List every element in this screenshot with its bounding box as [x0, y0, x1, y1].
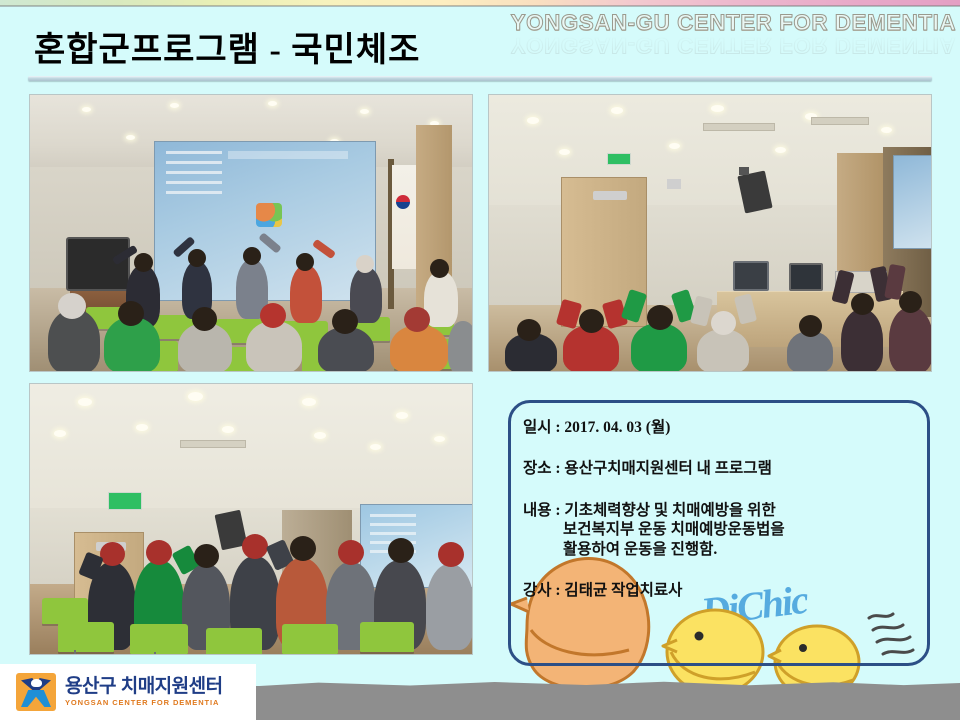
info-content-line-2: 보건복지부 운동 치매예방운동법을: [523, 520, 928, 539]
info-instructor-line: 강사 : 김태균 작업치료사: [523, 581, 928, 600]
logo-mark-icon: [16, 673, 56, 711]
photo-top-left-scene: [30, 95, 472, 371]
logo-english-name: YONGSAN CENTER FOR DEMENTIA: [65, 699, 223, 707]
logo-text-block: 용산구 치매지원센터 YONGSAN CENTER FOR DEMENTIA: [65, 677, 223, 707]
title-divider: [28, 76, 932, 81]
info-content-line-2-text: 보건복지부 운동 치매예방운동법을: [563, 521, 785, 538]
ground-strip: [255, 686, 960, 720]
logo-korean-name: 용산구 치매지원센터: [65, 677, 223, 697]
brand-english-reflection: YONGSAN-GU CENTER FOR DEMENTIA: [511, 32, 956, 58]
info-date-line: 일시 : 2017. 04. 03 (월): [523, 418, 928, 437]
info-place-line: 장소 : 용산구치매지원센터 내 프로그램: [523, 459, 928, 478]
photo-top-right[interactable]: [488, 94, 932, 372]
photo-bottom-left[interactable]: [29, 383, 473, 655]
info-content-line-3-text: 활용하여 운동을 진행함.: [563, 541, 717, 558]
slide-header: 혼합군프로그램 - 국민체조 YONGSAN-GU CENTER FOR DEM…: [0, 6, 960, 80]
page-title: 혼합군프로그램 - 국민체조: [34, 22, 420, 71]
info-content-line-3: 활용하여 운동을 진행함.: [523, 540, 928, 559]
center-logo: 용산구 치매지원센터 YONGSAN CENTER FOR DEMENTIA: [0, 664, 256, 720]
info-panel-text: 일시 : 2017. 04. 03 (월) 장소 : 용산구치매지원센터 내 프…: [523, 418, 928, 600]
photo-top-left[interactable]: [29, 94, 473, 372]
info-content-line-1: 내용 : 기초체력향상 및 치매예방을 위한: [523, 501, 928, 520]
photo-top-right-scene: [489, 95, 931, 371]
photo-bottom-left-scene: [30, 384, 472, 654]
slide-canvas: 혼합군프로그램 - 국민체조 YONGSAN-GU CENTER FOR DEM…: [0, 0, 960, 720]
